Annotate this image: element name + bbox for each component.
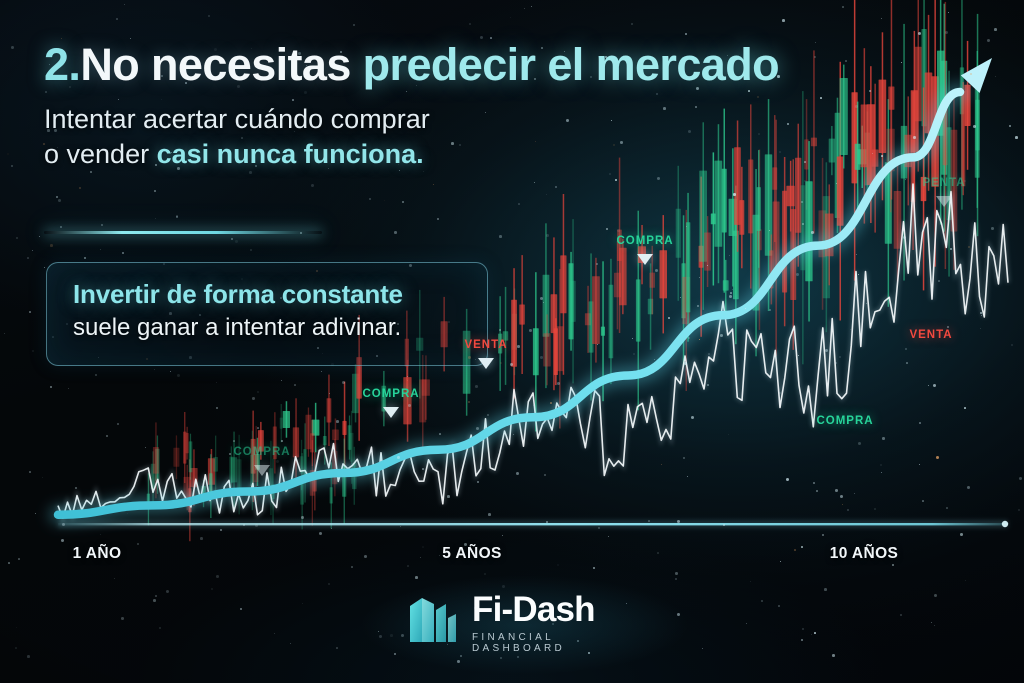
callout-box: Invertir de forma constante suele ganar … [46, 262, 488, 366]
fidash-logo-icon [406, 592, 462, 648]
annotation-compra-0: COMPRA [233, 446, 290, 458]
infographic-canvas: 2.No necesitas predecir el mercado Inten… [0, 0, 1024, 683]
brand-logo: Fi-Dash FINANCIAL DASHBOARD [406, 592, 646, 654]
callout-line1: Invertir de forma constante [73, 279, 465, 310]
annotation-venta-2: VENTA [464, 339, 507, 351]
headline-number: 2. [44, 39, 80, 90]
logo-text: Fi-Dash FINANCIAL DASHBOARD [472, 592, 646, 654]
annotation-compra-6: COMPRA [816, 415, 873, 427]
headline-block: 2.No necesitas predecir el mercado Inten… [44, 42, 924, 172]
annotation-venta-5: VENTA [909, 329, 952, 341]
page-title: 2.No necesitas predecir el mercado [44, 42, 924, 89]
brand-name: Fi-Dash [472, 592, 646, 627]
headline-white-part: No necesitas [80, 39, 362, 90]
axis-baseline-glow [58, 520, 1008, 528]
annotation-marker-icon-0 [254, 465, 270, 476]
headline-accent-part: predecir el mercado [363, 39, 779, 90]
subtitle-line2-plain: o vender [44, 139, 157, 169]
axis-end-dot [1002, 521, 1008, 527]
annotation-marker-icon-4 [936, 196, 952, 207]
annotation-compra-1: COMPRA [362, 388, 419, 400]
subtitle-line1: Intentar acertar cuándo comprar [44, 104, 430, 134]
annotation-penta-4: PENTA [922, 177, 965, 189]
callout-line2: suele ganar a intentar adivinar. [73, 314, 465, 342]
annotation-compra-3: COMPRA [616, 235, 673, 247]
axis-tick-1: 5 AÑOS [442, 545, 502, 563]
annotation-marker-icon-1 [383, 407, 399, 418]
annotation-marker-icon-2 [478, 358, 494, 369]
section-divider [44, 231, 322, 234]
axis-tick-2: 10 AÑOS [830, 545, 899, 563]
brand-tagline: FINANCIAL DASHBOARD [472, 632, 646, 654]
axis-tick-0: 1 AÑO [73, 545, 122, 563]
annotation-marker-icon-3 [637, 254, 653, 265]
subtitle: Intentar acertar cuándo comprar o vender… [44, 102, 924, 172]
subtitle-line2-bold: casi nunca funciona. [157, 139, 424, 169]
